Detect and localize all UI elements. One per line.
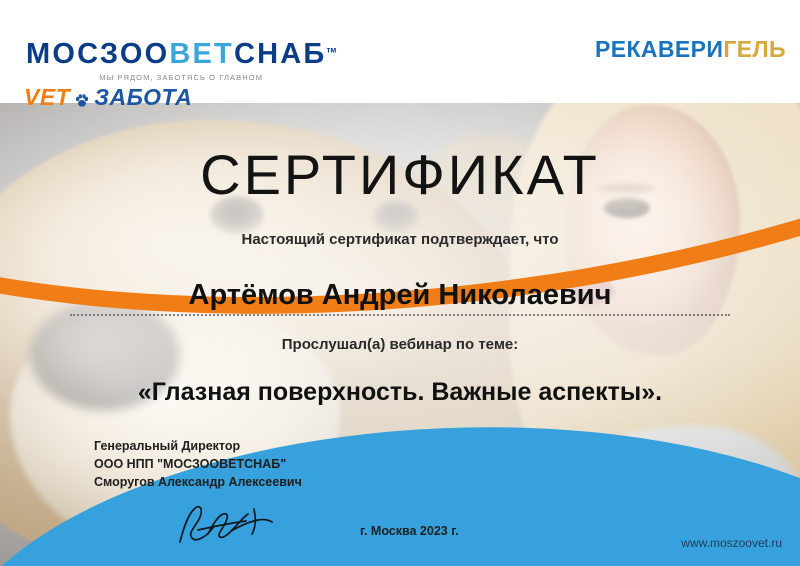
signatory-name: Сморугов Александр Алексеевич [94,474,302,492]
zabota-label: ЗАБОТА [94,86,192,109]
brand-tagline: МЫ РЯДОМ, ЗАБОТЯСЬ О ГЛАВНОМ [26,74,336,82]
handwritten-signature [168,500,278,544]
confirmation-line: Настоящий сертификат подтверждает, что [0,231,800,248]
place-and-date: г. Москва 2023 г. [360,524,459,538]
signatory-company: ООО НПП "МОСЗООВЕТСНАБ" [94,456,302,474]
paw-icon [74,90,90,106]
moszoovetsnab-wordmark: МОСЗООВЕТСНАБтм [26,40,336,69]
brand-name-part3: СНАБ [234,38,326,70]
webinar-topic: «Глазная поверхность. Важные аспекты». [0,378,800,407]
certificate-canvas: МОСЗООВЕТСНАБтм МЫ РЯДОМ, ЗАБОТЯСЬ О ГЛА… [0,0,800,566]
brand-name-part1: МОСЗОО [26,38,169,70]
signatory-role: Генеральный Директор [94,438,302,456]
certificate-title: СЕРТИФИКАТ [0,142,800,207]
signatory-block: Генеральный Директор ООО НПП "МОСЗООВЕТС… [94,438,302,491]
product-name-gold: ГЕЛЬ [723,36,786,62]
name-dotted-rule [70,314,730,316]
moszoovetsnab-logo: МОСЗООВЕТСНАБтм МЫ РЯДОМ, ЗАБОТЯСЬ О ГЛА… [26,40,336,82]
brand-name-part2: ВЕТ [169,38,234,70]
product-name-blue: РЕКАВЕРИ [595,36,723,62]
recipient-name: Артёмов Андрей Николаевич [0,279,800,312]
trademark-mark: тм [326,45,336,54]
recoverygel-logo: РЕКАВЕРИГЕЛЬ [595,36,786,63]
vet-label: VET [24,86,70,109]
attendance-line: Прослушал(а) вебинар по теме: [0,336,800,353]
website-url: www.moszoovet.ru [681,536,782,550]
vet-zabota-logo: VET ЗАБОТА [24,86,192,109]
